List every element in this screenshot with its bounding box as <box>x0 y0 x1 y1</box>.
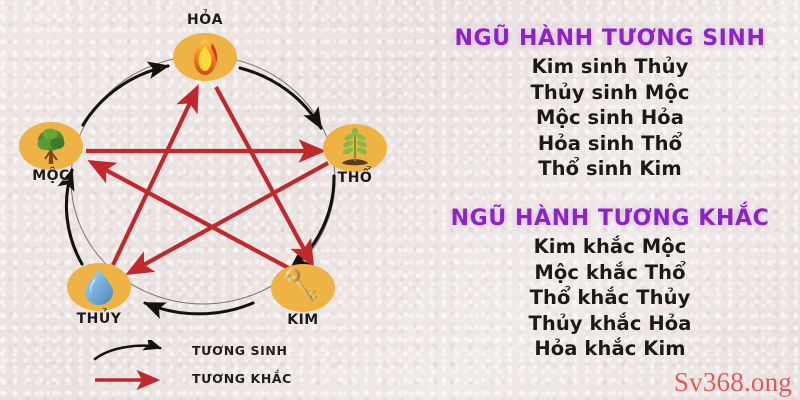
list-tuong-khac: Kim khắc Mộc Mộc khắc Thổ Thổ khắc Thủy … <box>420 234 800 362</box>
list-item: Thủy sinh Mộc <box>420 80 800 106</box>
list-item: Thổ khắc Thủy <box>420 285 800 311</box>
node-label-hoa: HỎA <box>145 12 265 28</box>
list-item: Thủy khắc Hỏa <box>420 311 800 337</box>
node-label-moc: MỘC <box>0 168 111 184</box>
sinh-arrow-kim-thuy <box>145 303 253 314</box>
curved-black-arrow-icon <box>92 340 178 364</box>
list-item: Mộc sinh Hỏa <box>420 105 800 131</box>
straight-red-arrow-icon <box>92 368 178 392</box>
sinh-arrow-moc-hoa <box>83 66 168 125</box>
list-item: Hỏa sinh Thổ <box>420 131 800 157</box>
watermark: Sv368.ong <box>674 367 792 398</box>
legend-label-tuong-sinh: TƯƠNG SINH <box>192 343 288 358</box>
tuong-khac-arrows <box>86 87 328 273</box>
section-tuong-khac: NGŨ HÀNH TƯƠNG KHẮC Kim khắc Mộc Mộc khắ… <box>420 206 800 362</box>
five-elements-diagram: HỎA THỔ KIM THỦY MỘC <box>0 0 420 400</box>
sinh-arrow-thuy-moc <box>66 170 82 264</box>
list-item: Kim sinh Thủy <box>420 54 800 80</box>
node-label-tho: THỔ <box>295 170 415 186</box>
node-label-thuy: THỦY <box>39 311 159 327</box>
heading-tuong-khac: NGŨ HÀNH TƯƠNG KHẮC <box>420 206 800 231</box>
node-label-kim: KIM <box>243 312 363 328</box>
list-tuong-sinh: Kim sinh Thủy Thủy sinh Mộc Mộc sinh Hỏa… <box>420 54 800 182</box>
list-item: Mộc khắc Thổ <box>420 260 800 286</box>
sinh-arrow-tho-kim <box>290 176 334 270</box>
section-tuong-sinh: NGŨ HÀNH TƯƠNG SINH Kim sinh Thủy Thủy s… <box>420 26 800 182</box>
sinh-arrow-hoa-tho <box>240 68 321 128</box>
list-item: Kim khắc Mộc <box>420 234 800 260</box>
diagram-legend: TƯƠNG SINH TƯƠNG KHẮC <box>92 340 352 396</box>
legend-row-tuong-sinh: TƯƠNG SINH <box>92 340 352 368</box>
list-item: Thổ sinh Kim <box>420 156 800 182</box>
legend-label-tuong-khac: TƯƠNG KHẮC <box>192 371 292 386</box>
text-panel: NGŨ HÀNH TƯƠNG SINH Kim sinh Thủy Thủy s… <box>420 0 800 400</box>
five-elements-infographic: HỎA THỔ KIM THỦY MỘC <box>0 0 800 400</box>
heading-tuong-sinh: NGŨ HÀNH TƯƠNG SINH <box>420 26 800 51</box>
list-item: Hỏa khắc Kim <box>420 336 800 362</box>
khac-arrow-thuy-hoa <box>113 88 197 265</box>
legend-row-tuong-khac: TƯƠNG KHẮC <box>92 368 352 396</box>
